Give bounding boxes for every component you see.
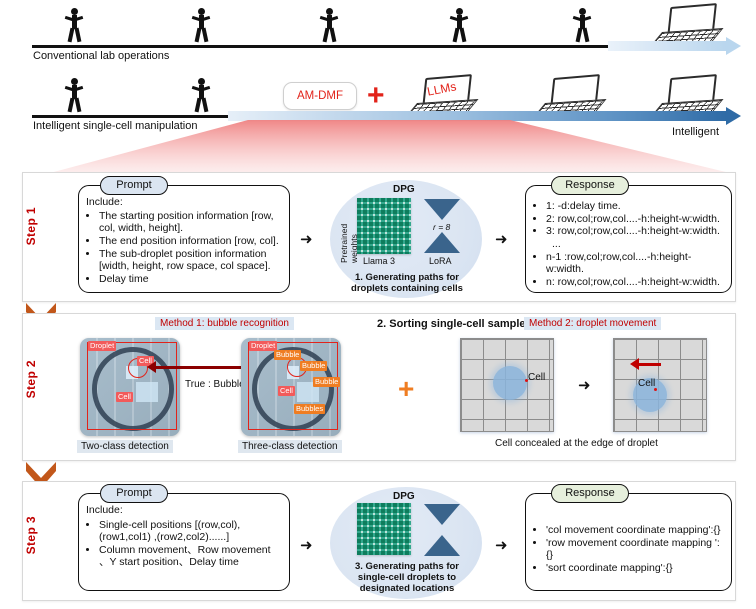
person-icon xyxy=(65,78,83,112)
step1-model-label: Llama 3 xyxy=(363,256,395,266)
laptop-icon xyxy=(657,76,717,116)
person-icon xyxy=(450,8,468,42)
step3-response-tab: Response xyxy=(551,484,629,503)
list-item: 'sort coordinate mapping':{} xyxy=(546,562,725,574)
list-item: 'col movement coordinate mapping':{} xyxy=(546,524,725,536)
step1-prompt-tab: Prompt xyxy=(100,176,168,195)
flow-arrow-icon: ➜ xyxy=(300,232,313,247)
flow-arrow-icon: ➜ xyxy=(578,378,591,393)
step1-adapter-label: LoRA xyxy=(429,256,452,266)
step1-prompt-intro: Include: xyxy=(86,196,123,208)
tag-bubble: Bubble xyxy=(274,350,301,360)
am-dmf-chip-label: AM-DMF xyxy=(283,82,357,110)
laptop-icon xyxy=(657,5,717,45)
step3-dpg-caption: 3. Generating paths for single-cell drop… xyxy=(345,561,469,594)
plus-icon: + xyxy=(367,81,385,111)
person-icon xyxy=(192,8,210,42)
list-item: The sub-droplet position information [wi… xyxy=(99,248,282,272)
plus-icon: + xyxy=(398,375,414,403)
step1-label: Step 1 xyxy=(24,207,38,245)
step1-rank-label: r = 8 xyxy=(433,222,450,232)
list-item: 'row movement coordinate mapping ':{} xyxy=(546,537,725,561)
list-item: 1: -d:delay time. xyxy=(546,200,725,212)
step1-dpg-title: DPG xyxy=(393,184,415,195)
timeline-arrow-conventional xyxy=(608,41,726,51)
step1-dpg-caption: 1. Generating paths for droplets contain… xyxy=(345,272,469,294)
cell-label-after: Cell xyxy=(638,378,655,389)
step1-response-bullets: 1: -d:delay time. 2: row,col;row,col....… xyxy=(533,200,725,288)
list-item: Single-cell positions [(row,col),(row1,c… xyxy=(99,519,282,543)
timeline-rule-conventional xyxy=(32,45,617,48)
person-icon xyxy=(192,78,210,112)
lora-trapezoid-top-icon xyxy=(424,199,460,220)
tag-droplet: Droplet xyxy=(88,341,116,351)
method2-label: Method 2: droplet movement xyxy=(524,317,661,330)
arrow-head-icon xyxy=(147,361,156,373)
two-class-caption: Two-class detection xyxy=(77,440,173,453)
arrow-head-icon xyxy=(726,37,741,55)
step3-prompt-intro: Include: xyxy=(86,504,123,516)
method2-caption: Cell concealed at the edge of droplet xyxy=(495,438,658,449)
person-icon xyxy=(320,8,338,42)
laptop-icon xyxy=(540,76,600,116)
red-funnel-connector xyxy=(30,120,730,175)
list-item: Column movement、Row movement 、Y start po… xyxy=(99,544,282,568)
timeline-banner: Conventional lab operations AM-DMF + LLM… xyxy=(0,0,756,160)
true-bubble-label: True : Bubble xyxy=(183,379,247,390)
flow-arrow-icon: ➜ xyxy=(300,538,313,553)
step1-response-tab: Response xyxy=(551,176,629,195)
step2-label: Step 2 xyxy=(24,360,38,398)
flow-arrow-icon: ➜ xyxy=(495,232,508,247)
person-icon xyxy=(65,8,83,42)
list-item: 2: row,col;row,col....-h:height-w:width. xyxy=(546,213,725,225)
cell-dot-icon xyxy=(654,388,657,391)
lora-trapezoid-bottom-icon xyxy=(424,535,460,556)
list-item: 3: row,col;row,col....-h:height-w:width. xyxy=(546,225,725,237)
pretrained-weights-grid xyxy=(357,198,411,254)
step3-label: Step 3 xyxy=(24,516,38,554)
step3-prompt-tab: Prompt xyxy=(100,484,168,503)
three-class-caption: Three-class detection xyxy=(238,440,342,453)
method1-label: Method 1: bubble recognition xyxy=(155,317,294,330)
lora-trapezoid-top-icon xyxy=(424,504,460,525)
two-class-bbox xyxy=(87,342,177,430)
step1-pretrained-weights-label: Pretrained weights xyxy=(339,205,359,263)
step3-dpg-title: DPG xyxy=(393,491,415,502)
droplet-shape xyxy=(493,366,527,400)
pretrained-weights-grid xyxy=(357,503,411,555)
arrow-head-icon xyxy=(630,358,639,370)
timeline-rule-intelligent xyxy=(32,115,232,118)
tag-cell: Cell xyxy=(278,386,295,396)
list-item: The end position information [row, col]. xyxy=(99,235,282,247)
tag-bubble: Bubble xyxy=(300,361,327,371)
step3-response-bullets: 'col movement coordinate mapping':{} 'ro… xyxy=(533,524,725,574)
tag-cell: Cell xyxy=(116,392,133,402)
step3-prompt-bullets: Single-cell positions [(row,col),(row1,c… xyxy=(86,519,282,569)
flow-arrow-icon: ➜ xyxy=(495,538,508,553)
tag-droplet: Droplet xyxy=(249,341,277,351)
tag-bubbles: Bubbles xyxy=(294,404,325,414)
list-item: n: row,col;row,col....-h:height-w:width. xyxy=(546,276,725,288)
tag-bubble: Bubble xyxy=(313,377,340,387)
step1-prompt-bullets: The starting position information [row, … xyxy=(86,210,282,285)
timeline-label-conventional: Conventional lab operations xyxy=(33,50,169,62)
person-icon xyxy=(573,8,591,42)
step2-section-title: 2. Sorting single-cell sample xyxy=(377,318,526,330)
list-item-ellipsis: ... xyxy=(546,238,725,250)
list-item: The starting position information [row, … xyxy=(99,210,282,234)
list-item: Delay time xyxy=(99,273,282,285)
move-arrow-line xyxy=(636,363,661,366)
cell-label-before: Cell xyxy=(528,372,545,383)
list-item: n-1 :row,col;row,col....-h:height-w:widt… xyxy=(546,251,725,275)
lora-trapezoid-bottom-icon xyxy=(424,232,460,253)
